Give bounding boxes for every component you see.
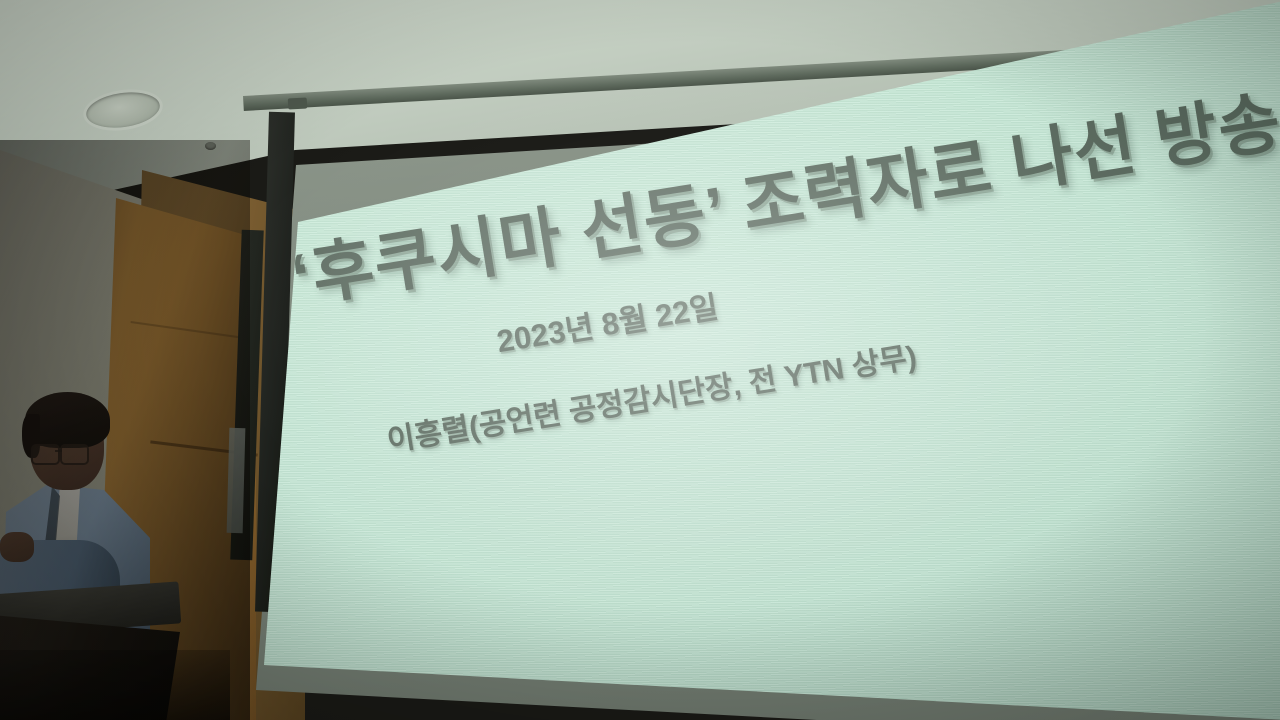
presenter-hand xyxy=(0,532,34,562)
wall-panel-strip xyxy=(227,428,246,533)
slide-date: 2023년 8월 22일 xyxy=(493,281,721,361)
presenter-glasses-right-lens xyxy=(60,444,89,465)
podium-shadow xyxy=(0,650,230,720)
screenshot-root: ‘후쿠시마 선동’ 조력자로 나선 방송 2023년 8월 22일 이흥렬(공언… xyxy=(0,0,1280,720)
presenter-glasses-left-lens xyxy=(31,444,60,465)
rail-bracket xyxy=(288,98,308,110)
ceiling-sensor-icon xyxy=(205,142,216,150)
slide-author: 이흥렬(공언련 공정감시단장, 전 YTN 상무) xyxy=(383,332,919,460)
presenter-glasses-bridge xyxy=(55,450,62,452)
